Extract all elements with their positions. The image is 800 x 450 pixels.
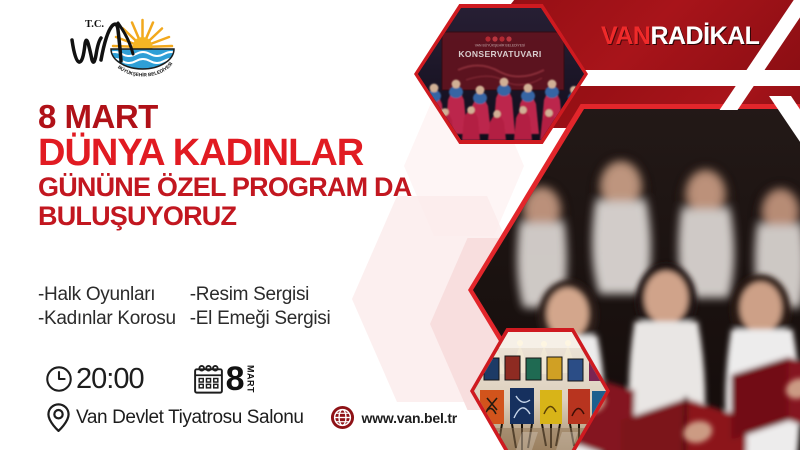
event-location: Van Devlet Tiyatrosu Salonu bbox=[76, 407, 304, 429]
headline-block: 8 MART DÜNYA KADINLAR GÜNÜNE ÖZEL PROGRA… bbox=[38, 100, 508, 230]
program-list: -Halk Oyunları -Kadınlar Korosu -Resim S… bbox=[38, 283, 330, 331]
clock-icon bbox=[44, 364, 74, 394]
program-item: -Halk Oyunları bbox=[38, 283, 176, 307]
svg-text:T.C.: T.C. bbox=[85, 19, 104, 30]
program-column-left: -Halk Oyunları -Kadınlar Korosu bbox=[38, 283, 176, 331]
event-location-group: Van Devlet Tiyatrosu Salonu bbox=[44, 402, 304, 433]
van-municipality-logo: T.C. BÜYÜKŞEHİR BELEDİYESİ bbox=[52, 12, 182, 78]
calendar-icon bbox=[192, 363, 225, 396]
poster-canvas: T.C. BÜYÜKŞEHİR BELEDİYESİ 8 MART DÜNYA … bbox=[0, 0, 800, 450]
website-group[interactable]: www.van.bel.tr bbox=[330, 405, 457, 430]
program-item: -El Emeği Sergisi bbox=[190, 307, 331, 331]
event-date-group: 8 MART bbox=[192, 362, 255, 396]
brand-wordmark-radikal: RADİKAL bbox=[650, 22, 759, 50]
event-time: 20:00 bbox=[76, 363, 144, 396]
website-url[interactable]: www.van.bel.tr bbox=[362, 410, 457, 426]
program-item: -Kadınlar Korosu bbox=[38, 307, 176, 331]
brand-wordmark-van: VAN bbox=[601, 22, 650, 50]
event-info-row-place-web: Van Devlet Tiyatrosu Salonu www.van.bel.… bbox=[44, 402, 504, 433]
headline-line-2: DÜNYA KADINLAR bbox=[38, 134, 508, 172]
headline-line-4: BULUŞUYORUZ bbox=[38, 203, 508, 230]
headline-line-3: GÜNÜNE ÖZEL PROGRAM DA bbox=[38, 174, 508, 201]
program-item: -Resim Sergisi bbox=[190, 283, 331, 307]
event-date-day: 8 bbox=[226, 362, 245, 396]
event-date-month: MART bbox=[246, 365, 255, 393]
brand-wordmark: VANRADİKAL bbox=[601, 22, 759, 51]
globe-icon[interactable] bbox=[330, 405, 355, 430]
program-column-right: -Resim Sergisi -El Emeği Sergisi bbox=[190, 283, 331, 331]
event-time-group: 20:00 bbox=[44, 363, 144, 396]
panel-divider bbox=[554, 70, 800, 86]
event-info: 20:00 bbox=[44, 362, 504, 433]
map-pin-icon bbox=[44, 402, 73, 433]
event-info-row-time-date: 20:00 bbox=[44, 362, 504, 396]
